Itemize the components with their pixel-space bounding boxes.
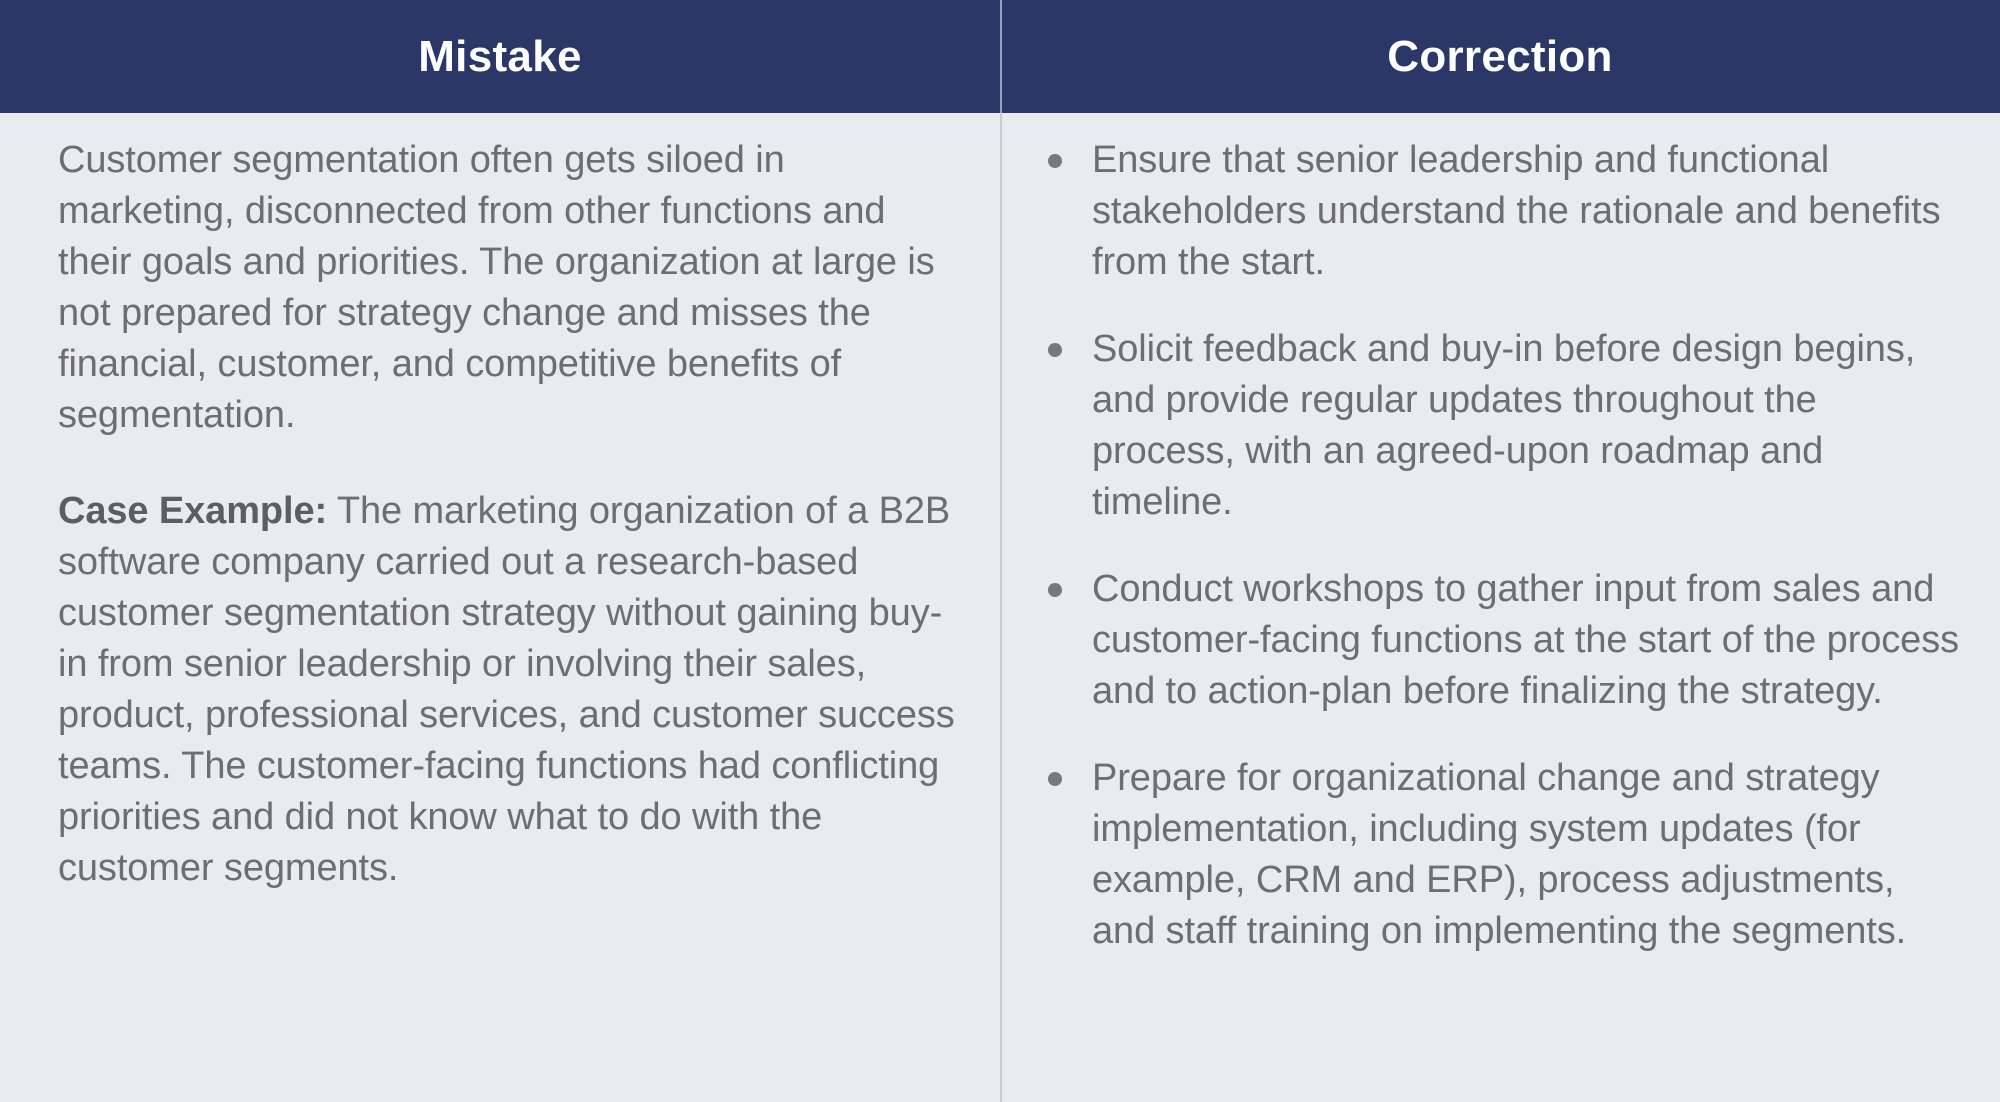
mistake-case-example: Case Example: The marketing organization…	[58, 486, 960, 894]
list-item-text: Prepare for organizational change and st…	[1092, 753, 1964, 957]
correction-bullet-list: Ensure that senior leadership and functi…	[1030, 135, 1964, 957]
list-item-text: Solicit feedback and buy-in before desig…	[1092, 324, 1964, 528]
list-item: Ensure that senior leadership and functi…	[1030, 135, 1964, 288]
case-example-label: Case Example:	[58, 490, 327, 532]
column-header-mistake: Mistake	[0, 0, 1000, 113]
case-example-body: The marketing organization of a B2B soft…	[58, 490, 955, 889]
bullet-dot-icon	[1048, 772, 1062, 786]
column-header-correction-label: Correction	[1387, 35, 1612, 79]
list-item: Conduct workshops to gather input from s…	[1030, 564, 1964, 717]
column-header-correction: Correction	[1000, 0, 2000, 113]
bullet-dot-icon	[1048, 583, 1062, 597]
mistake-cell: Customer segmentation often gets siloed …	[0, 113, 1000, 1102]
list-item-text: Conduct workshops to gather input from s…	[1092, 564, 1964, 717]
column-divider	[1000, 0, 1002, 1102]
list-item: Prepare for organizational change and st…	[1030, 753, 1964, 957]
mistake-paragraph-1: Customer segmentation often gets siloed …	[58, 135, 960, 441]
bullet-dot-icon	[1048, 154, 1062, 168]
bullet-dot-icon	[1048, 343, 1062, 357]
column-header-mistake-label: Mistake	[418, 35, 582, 79]
comparison-table: Mistake Correction Customer segmentation…	[0, 0, 2000, 1102]
list-item-text: Ensure that senior leadership and functi…	[1092, 135, 1964, 288]
column-divider-header	[1000, 0, 1002, 113]
correction-cell: Ensure that senior leadership and functi…	[1000, 113, 2000, 1102]
list-item: Solicit feedback and buy-in before desig…	[1030, 324, 1964, 528]
